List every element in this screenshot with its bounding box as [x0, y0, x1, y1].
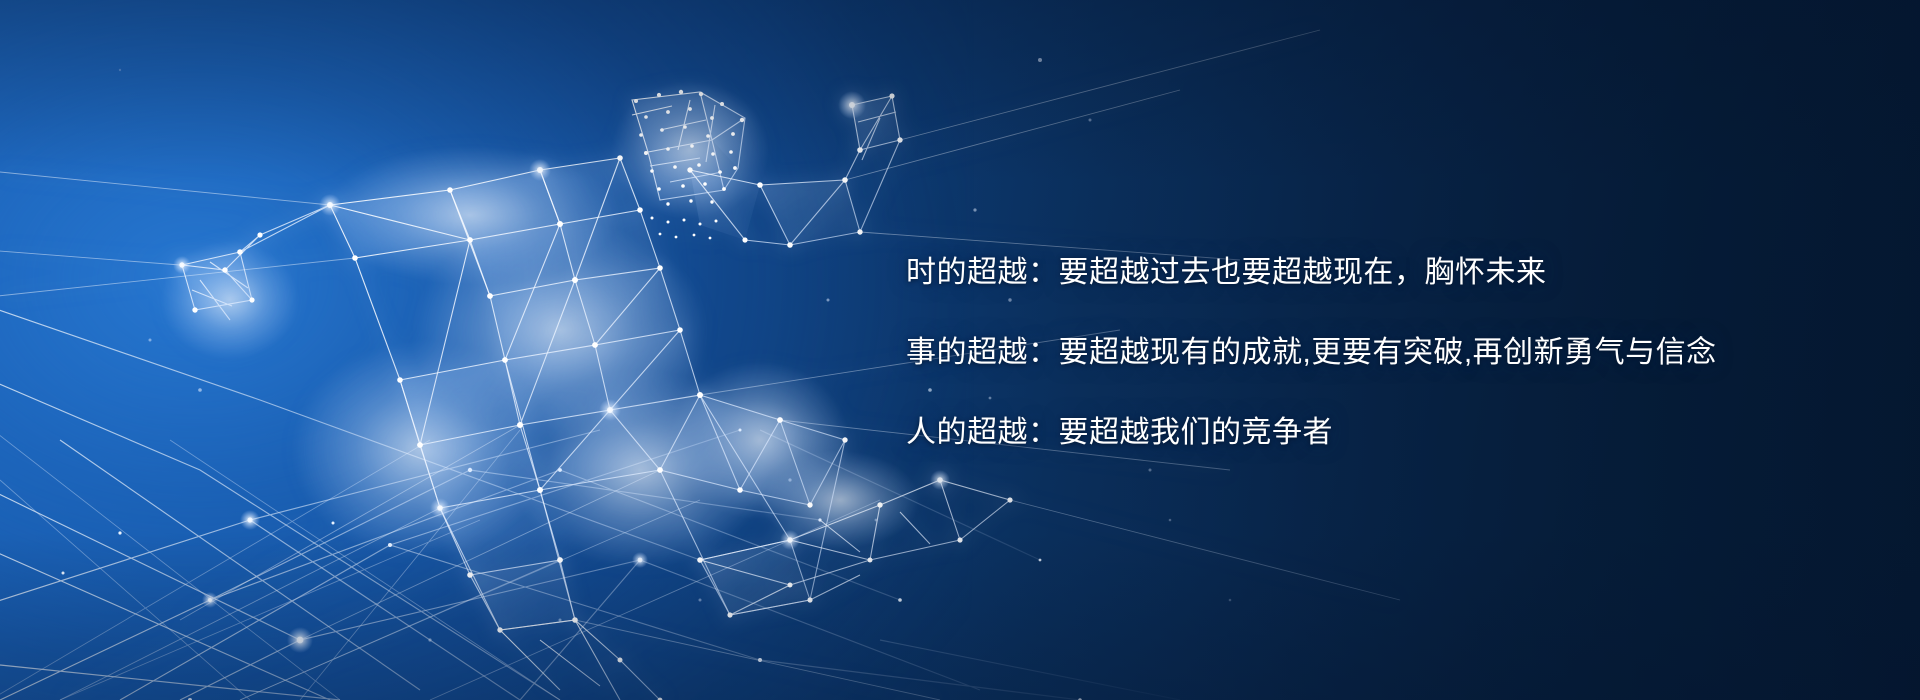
slogan-block: 时的超越：要超越过去也要超越现在，胸怀未来 事的超越：要超越现有的成就,更要有突… — [906, 233, 1806, 473]
slogan-line-matter: 事的超越：要超越现有的成就,更要有突破,再创新勇气与信念 — [906, 313, 1806, 393]
banner-stage: 时的超越：要超越过去也要超越现在，胸怀未来 事的超越：要超越现有的成就,更要有突… — [0, 0, 1920, 700]
slogan-line-people: 人的超越：要超越我们的竞争者 — [906, 393, 1806, 473]
slogan-line-time: 时的超越：要超越过去也要超越现在，胸怀未来 — [906, 233, 1806, 313]
